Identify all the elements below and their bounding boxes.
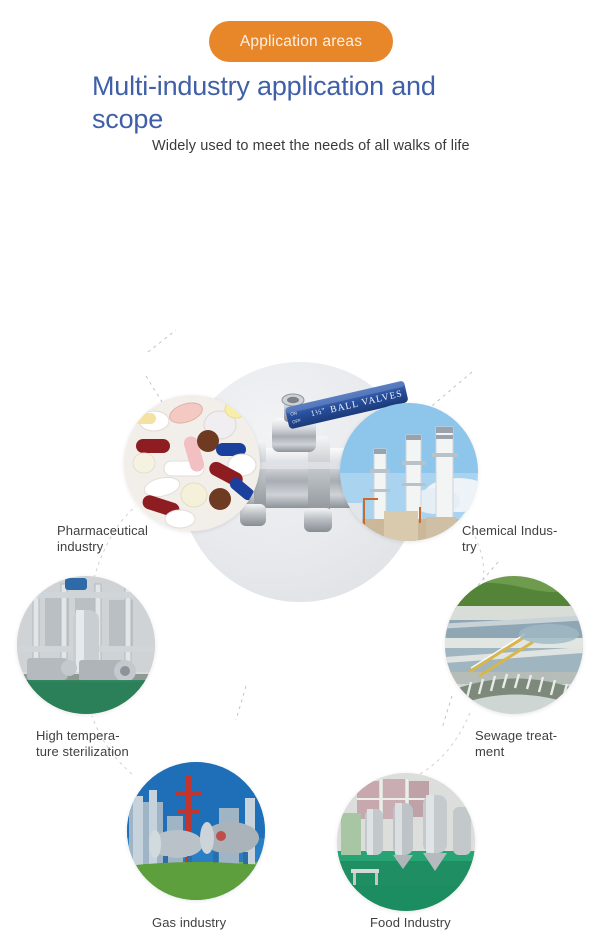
label-sewage-treatment: Sewage treat- ment xyxy=(475,728,557,760)
gas-refinery-image xyxy=(127,762,265,900)
node-chemical-industry[interactable] xyxy=(340,403,478,541)
badge-label: Application areas xyxy=(240,33,362,51)
label-chemical-industry: Chemical Indus- try xyxy=(462,523,557,555)
node-high-temperature-sterilization[interactable] xyxy=(17,576,155,714)
node-pharmaceutical-industry[interactable] xyxy=(124,395,260,531)
food-plant-image xyxy=(337,773,475,911)
sterilization-equipment-image xyxy=(17,576,155,714)
application-areas-infographic: Application areas Multi-industry applica… xyxy=(0,0,600,801)
application-areas-badge: Application areas xyxy=(209,21,393,62)
label-gas-industry: Gas industry xyxy=(152,915,226,931)
node-food-industry[interactable] xyxy=(337,773,475,911)
label-food-industry: Food Industry xyxy=(370,915,451,931)
page-title: Multi-industry application and scope xyxy=(92,70,492,136)
chemical-plant-image xyxy=(340,403,478,541)
pills-image xyxy=(124,395,260,531)
page-subtitle: Widely used to meet the needs of all wal… xyxy=(152,138,572,154)
node-sewage-treatment[interactable] xyxy=(445,576,583,714)
industry-wheel-diagram: 1½" BALL VALVES ON OFF xyxy=(0,180,600,780)
node-gas-industry[interactable] xyxy=(127,762,265,900)
label-high-temperature-sterilization: High tempera- ture sterilization xyxy=(36,728,129,760)
label-pharmaceutical-industry: Pharmaceutical industry xyxy=(57,523,148,555)
sewage-plant-image xyxy=(445,576,583,714)
